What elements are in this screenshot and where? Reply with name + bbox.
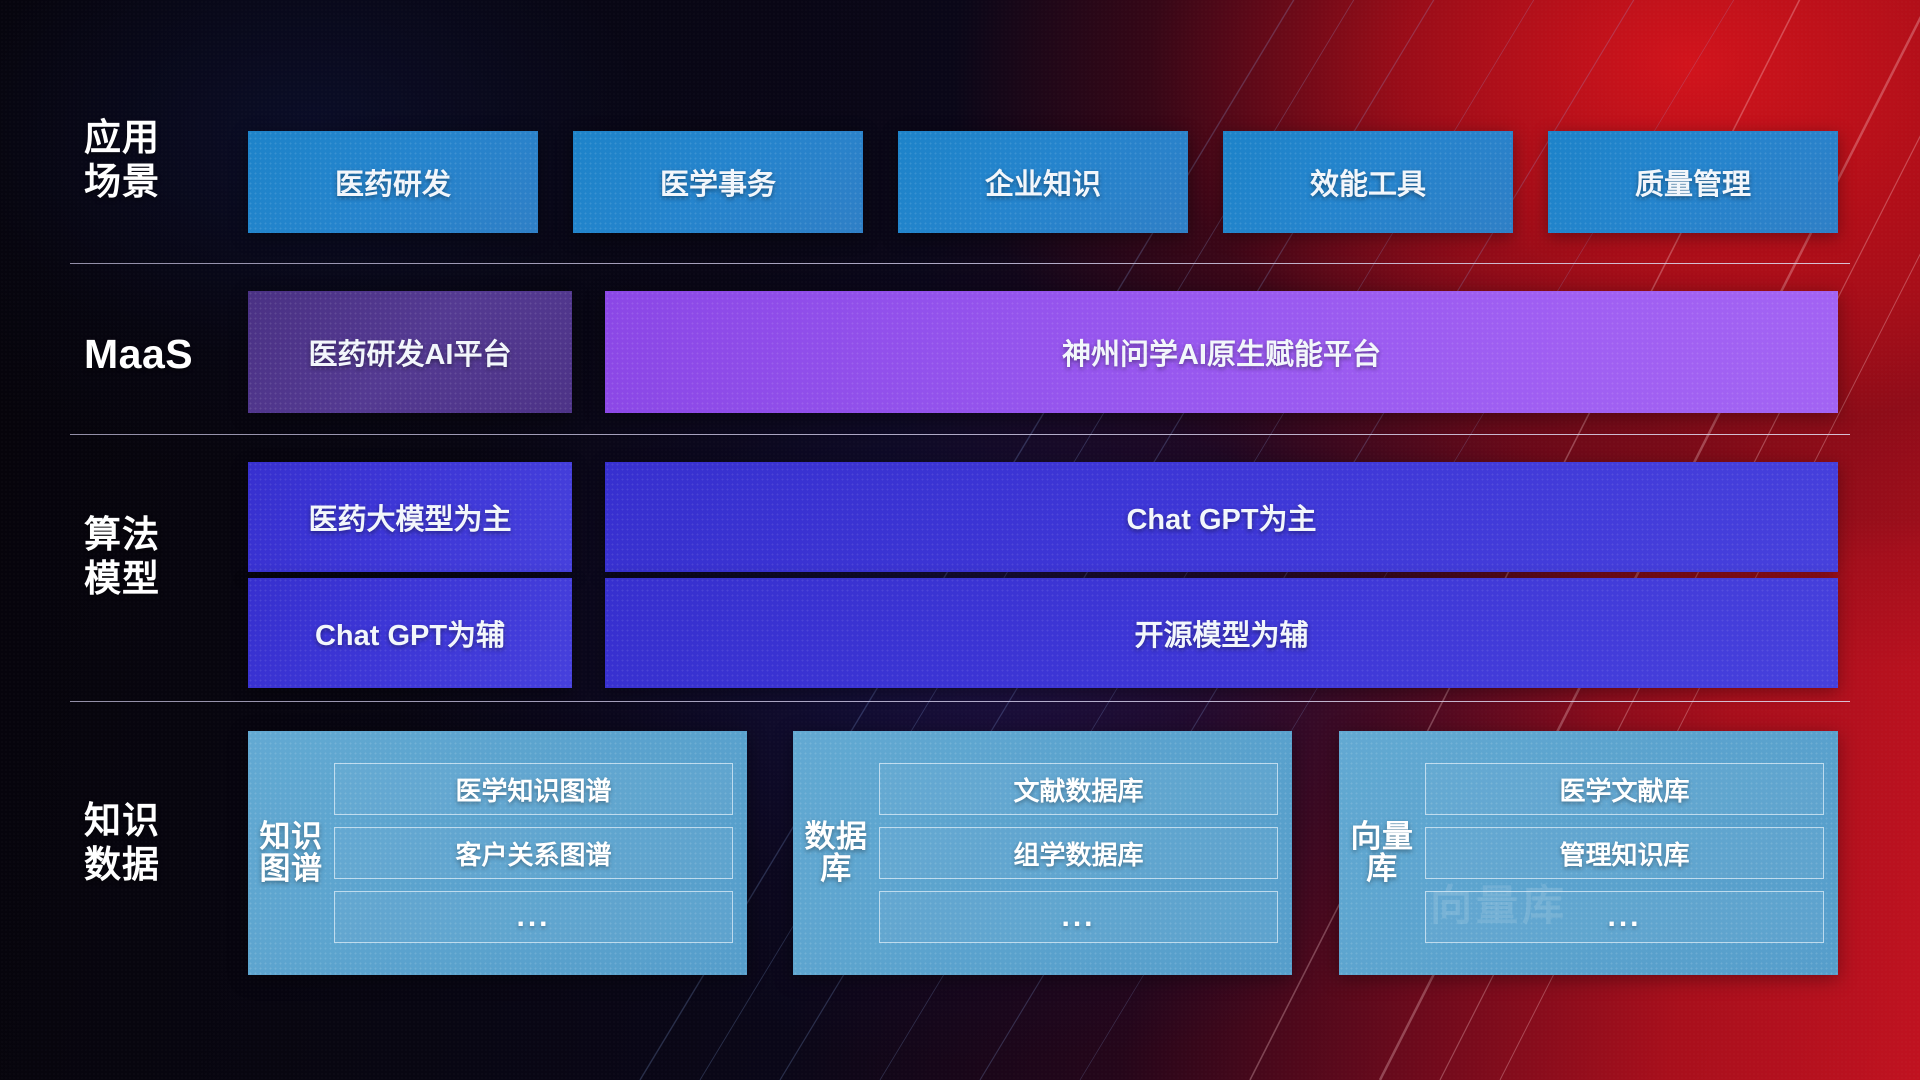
architecture-diagram: 应用 场景 医药研发 医学事务 企业知识 效能工具 质量管理 MaaS 医药研发… [0,0,1920,1080]
algo-box-label: Chat GPT为主 [1126,496,1316,538]
algo-box-chatgpt-primary[interactable]: Chat GPT为主 [605,462,1838,572]
app-box-label: 效能工具 [1310,161,1426,203]
knowledge-item[interactable]: 医学文献库 [1425,763,1824,815]
app-box-efficiency-tools[interactable]: 效能工具 [1223,131,1513,233]
row-label-knowledge-data: 知识 数据 [84,799,234,886]
algo-box-chatgpt-secondary[interactable]: Chat GPT为辅 [248,578,572,688]
knowledge-group-items: 医学文献库 管理知识库 ... [1425,763,1824,943]
algo-box-label: 开源模型为辅 [1134,612,1308,654]
knowledge-group-title: 知识图谱 [248,821,334,885]
knowledge-group-knowledge-graph[interactable]: 知识图谱 医学知识图谱 客户关系图谱 ... [248,731,747,975]
knowledge-group-title: 向量库 [1339,821,1425,885]
knowledge-group-database[interactable]: 数据库 文献数据库 组学数据库 ... [793,731,1292,975]
knowledge-item[interactable]: 客户关系图谱 [334,827,733,879]
algo-box-pharma-llm-primary[interactable]: 医药大模型为主 [248,462,572,572]
knowledge-item[interactable]: 组学数据库 [879,827,1278,879]
row-label-line: 场景 [84,160,234,204]
divider-after-maas [70,434,1850,435]
row-label-line: 数据 [84,843,234,887]
algo-box-label: 医药大模型为主 [308,496,511,538]
algo-box-label: Chat GPT为辅 [315,612,505,654]
maas-box-label: 神州问学AI原生赋能平台 [1062,331,1381,373]
knowledge-group-vector-database[interactable]: 向量库 医学文献库 管理知识库 ... [1339,731,1838,975]
app-box-label: 医学事务 [660,161,776,203]
app-box-label: 医药研发 [335,161,451,203]
knowledge-item-more[interactable]: ... [879,891,1278,943]
app-box-drug-rd[interactable]: 医药研发 [248,131,538,233]
app-box-label: 质量管理 [1635,161,1751,203]
app-box-label: 企业知识 [985,161,1101,203]
divider-after-algorithm-model [70,701,1850,702]
row-label-maas: MaaS [84,330,234,378]
knowledge-group-title: 数据库 [793,821,879,885]
app-box-quality-management[interactable]: 质量管理 [1548,131,1838,233]
knowledge-item-more[interactable]: ... [334,891,733,943]
row-label-line: 知识 [84,799,234,843]
app-box-enterprise-knowledge[interactable]: 企业知识 [898,131,1188,233]
knowledge-item[interactable]: 文献数据库 [879,763,1278,815]
row-label-line: 应用 [84,116,234,160]
divider-after-application-scenarios [70,263,1850,264]
maas-box-drug-rd-ai-platform[interactable]: 医药研发AI平台 [248,291,572,413]
algo-box-opensource-secondary[interactable]: 开源模型为辅 [605,578,1838,688]
row-label-line: 算法 [84,513,234,557]
knowledge-group-items: 文献数据库 组学数据库 ... [879,763,1278,943]
row-label-algorithm-model: 算法 模型 [84,513,234,600]
row-label-application-scenarios: 应用 场景 [84,116,234,203]
app-box-medical-affairs[interactable]: 医学事务 [573,131,863,233]
knowledge-item[interactable]: 管理知识库 [1425,827,1824,879]
knowledge-item[interactable]: 医学知识图谱 [334,763,733,815]
knowledge-item-more[interactable]: ... [1425,891,1824,943]
knowledge-group-items: 医学知识图谱 客户关系图谱 ... [334,763,733,943]
maas-box-shenzhou-wenxue-platform[interactable]: 神州问学AI原生赋能平台 [605,291,1838,413]
row-label-line: 模型 [84,557,234,601]
maas-box-label: 医药研发AI平台 [308,331,511,373]
